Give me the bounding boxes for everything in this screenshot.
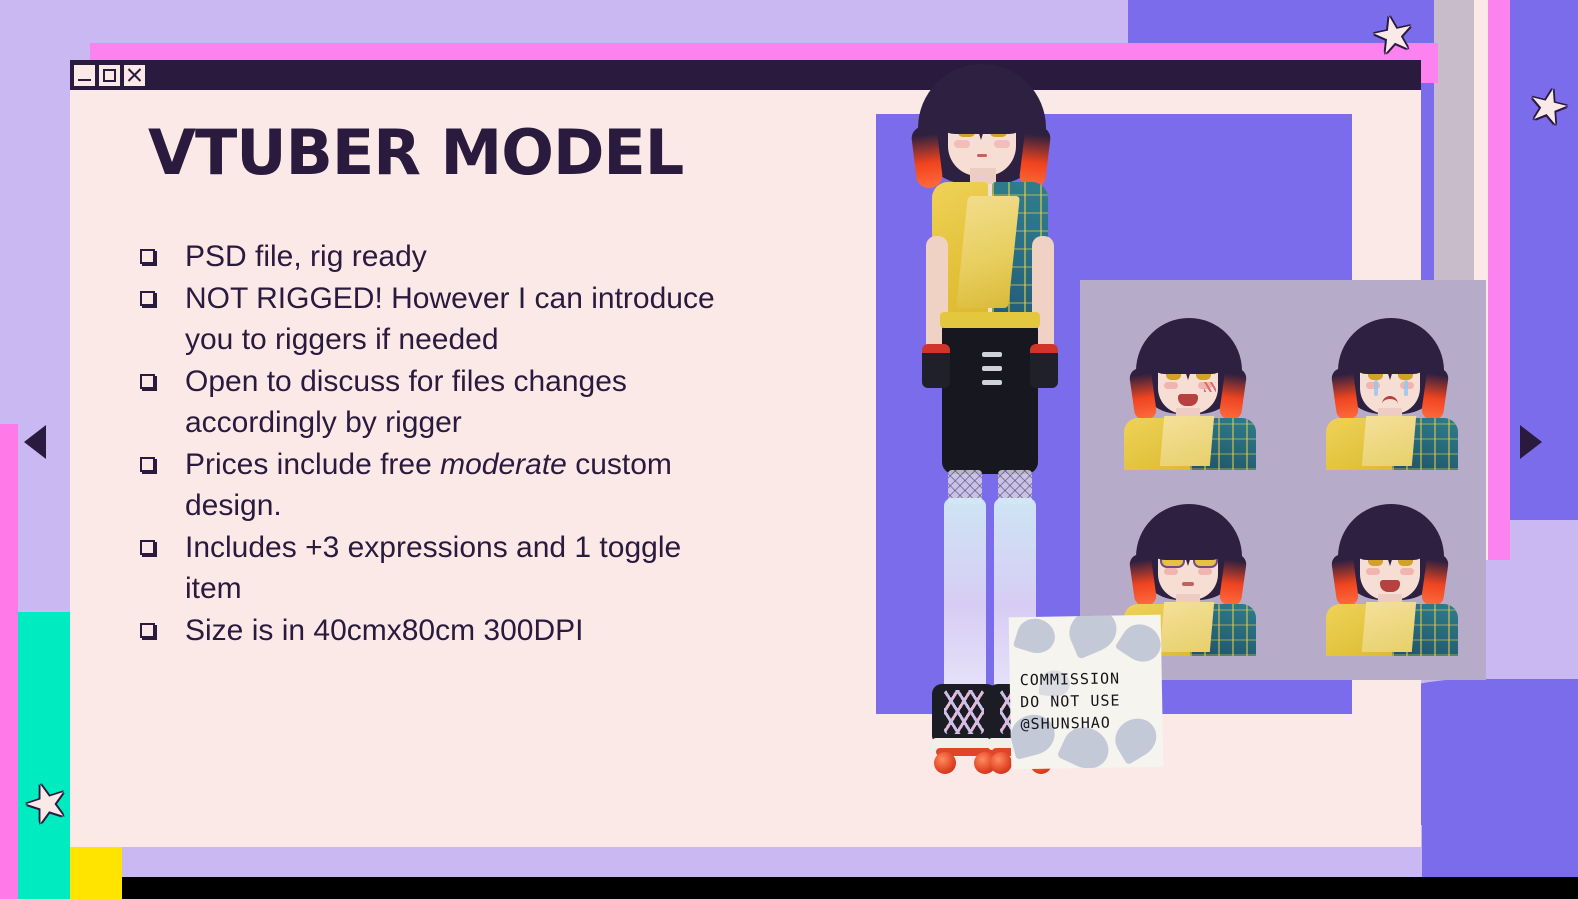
window-body: COMMISSION DO NOT USE @SHUNSHAO VTUBER M… <box>70 90 1421 847</box>
expression-bust-sad-crying <box>1312 312 1470 470</box>
character-shorts-clasp <box>982 380 1002 385</box>
feature-list: PSD file, rig ready NOT RIGGED! However … <box>140 236 860 651</box>
list-item-label: Size is in 40cmx80cm 300DPI <box>185 610 584 651</box>
slide-content: VTUBER MODEL PSD file, rig ready NOT RIG… <box>140 122 860 652</box>
retro-window: COMMISSION DO NOT USE @SHUNSHAO VTUBER M… <box>70 60 1421 847</box>
magenta-strip-left <box>0 424 18 899</box>
list-item: NOT RIGGED! However I can introduce you … <box>140 278 860 360</box>
checkbox-icon <box>140 540 155 555</box>
character-cheek-right <box>994 140 1010 148</box>
expression-bust-angry-shout <box>1110 312 1268 470</box>
expression-bust-smiling-open <box>1312 498 1470 656</box>
checkbox-icon <box>140 291 155 306</box>
list-item-label: Includes +3 expressions and 1 toggle ite… <box>185 527 745 609</box>
list-item-label: NOT RIGGED! However I can introduce you … <box>185 278 745 360</box>
black-bar-bottom <box>122 877 1578 899</box>
character-legging-left <box>944 498 986 712</box>
character-shorts <box>942 322 1038 474</box>
character-cheek-left <box>954 140 970 148</box>
page-title: VTUBER MODEL <box>148 122 860 184</box>
close-icon[interactable] <box>124 65 145 86</box>
character-glove-right <box>1030 344 1058 388</box>
character-shorts-clasp <box>982 366 1002 371</box>
minimize-icon[interactable] <box>74 65 95 86</box>
character-shorts-clasp <box>982 352 1002 357</box>
window-titlebar <box>70 60 1421 90</box>
prev-arrow-icon[interactable] <box>24 425 46 459</box>
checkbox-icon <box>140 623 155 638</box>
character-glove-left <box>922 344 950 388</box>
list-item: PSD file, rig ready <box>140 236 860 277</box>
list-item-label-pre: Prices include free <box>185 448 440 481</box>
list-item-label-emphasis: moderate <box>440 448 567 481</box>
magenta-strip-right <box>1488 0 1510 560</box>
list-item-label: PSD file, rig ready <box>185 236 427 277</box>
checkbox-icon <box>140 457 155 472</box>
watermark-card: COMMISSION DO NOT USE @SHUNSHAO <box>1009 615 1164 770</box>
next-arrow-icon[interactable] <box>1520 425 1542 459</box>
list-item-label: Prices include free moderate custom desi… <box>185 444 745 526</box>
list-item: Size is in 40cmx80cm 300DPI <box>140 610 860 651</box>
maximize-icon[interactable] <box>99 65 120 86</box>
character-mouth <box>977 154 987 157</box>
checkbox-icon <box>140 249 155 264</box>
list-item-label: Open to discuss for files changes accord… <box>185 361 745 443</box>
list-item: Includes +3 expressions and 1 toggle ite… <box>140 527 860 609</box>
checkbox-icon <box>140 374 155 389</box>
list-item: Open to discuss for files changes accord… <box>140 361 860 443</box>
teal-block-left <box>18 612 70 899</box>
watermark-text: COMMISSION DO NOT USE @SHUNSHAO <box>1009 615 1163 736</box>
slide-canvas: ★ ★ ★ <box>0 0 1578 899</box>
list-item: Prices include free moderate custom desi… <box>140 444 860 526</box>
character-belt <box>940 312 1040 328</box>
